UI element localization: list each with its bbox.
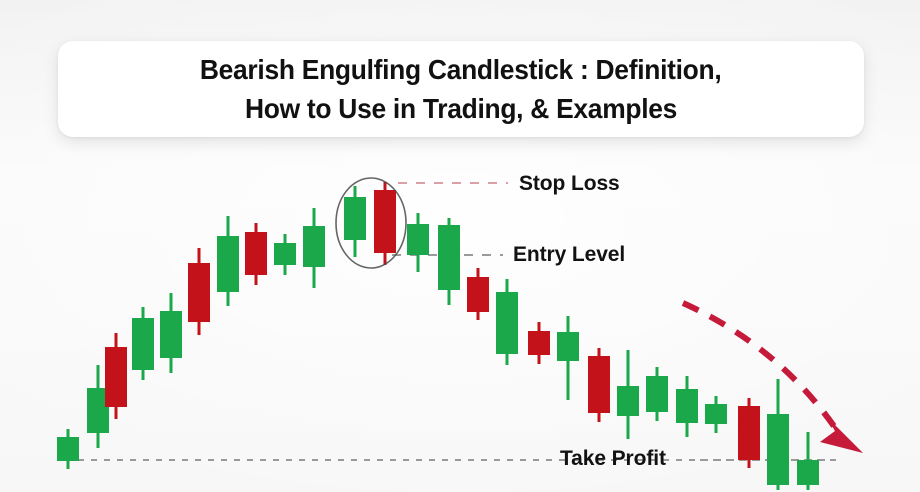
candle-body	[303, 226, 325, 267]
candle-body	[646, 376, 668, 412]
candle-body	[467, 277, 489, 312]
candle-bearish	[245, 223, 267, 285]
candle-body	[160, 311, 182, 358]
candle-bearish	[188, 248, 210, 335]
candle-body	[588, 356, 610, 413]
candle-bullish	[646, 367, 668, 421]
candle-bullish	[767, 379, 789, 490]
candle-bullish	[705, 396, 727, 433]
candle-bearish	[374, 182, 396, 265]
candle-body	[438, 225, 460, 290]
candle-body	[188, 263, 210, 322]
candle-body	[245, 232, 267, 275]
candle-bearish	[105, 333, 127, 419]
candle-body	[274, 243, 296, 265]
candle-body	[132, 318, 154, 370]
candle-body	[374, 190, 396, 253]
entry-level-label: Entry Level	[513, 243, 625, 267]
candle-bearish	[528, 322, 550, 364]
title-line-1: Bearish Engulfing Candlestick : Definiti…	[200, 50, 722, 89]
candle-body	[407, 224, 429, 255]
candle-bullish	[132, 307, 154, 380]
candle-bullish	[797, 432, 819, 490]
candle-body	[105, 347, 127, 407]
candle-body	[705, 404, 727, 424]
candle-body	[557, 332, 579, 361]
candle-body	[496, 292, 518, 354]
take-profit-label: Take Profit	[554, 447, 672, 471]
candle-bullish	[407, 213, 429, 272]
title-card: Bearish Engulfing Candlestick : Definiti…	[58, 41, 864, 137]
candle-bullish	[438, 218, 460, 305]
candle-bullish	[344, 186, 366, 257]
candle-bearish	[467, 268, 489, 320]
candle-body	[617, 386, 639, 416]
downtrend-arrowhead	[820, 416, 863, 453]
candle-bullish	[557, 316, 579, 400]
candle-body	[767, 414, 789, 485]
candle-body	[738, 406, 760, 460]
candle-body	[344, 197, 366, 240]
candle-bullish	[217, 216, 239, 306]
candle-body	[676, 389, 698, 423]
stop-loss-label: Stop Loss	[519, 172, 620, 196]
candle-body	[528, 331, 550, 355]
candles-group	[57, 182, 819, 490]
candle-bearish	[588, 348, 610, 422]
candle-bullish	[303, 208, 325, 288]
title-line-2: How to Use in Trading, & Examples	[245, 89, 677, 128]
candle-bullish	[617, 350, 639, 439]
candle-bullish	[160, 293, 182, 373]
candle-bullish	[274, 234, 296, 275]
candle-bullish	[496, 279, 518, 365]
candle-bullish	[57, 429, 79, 469]
infographic-canvas: Bearish Engulfing Candlestick : Definiti…	[0, 0, 920, 492]
candle-bullish	[676, 376, 698, 437]
candle-body	[217, 236, 239, 292]
candle-bearish	[738, 398, 760, 468]
candle-body	[797, 460, 819, 485]
candle-body	[57, 437, 79, 461]
